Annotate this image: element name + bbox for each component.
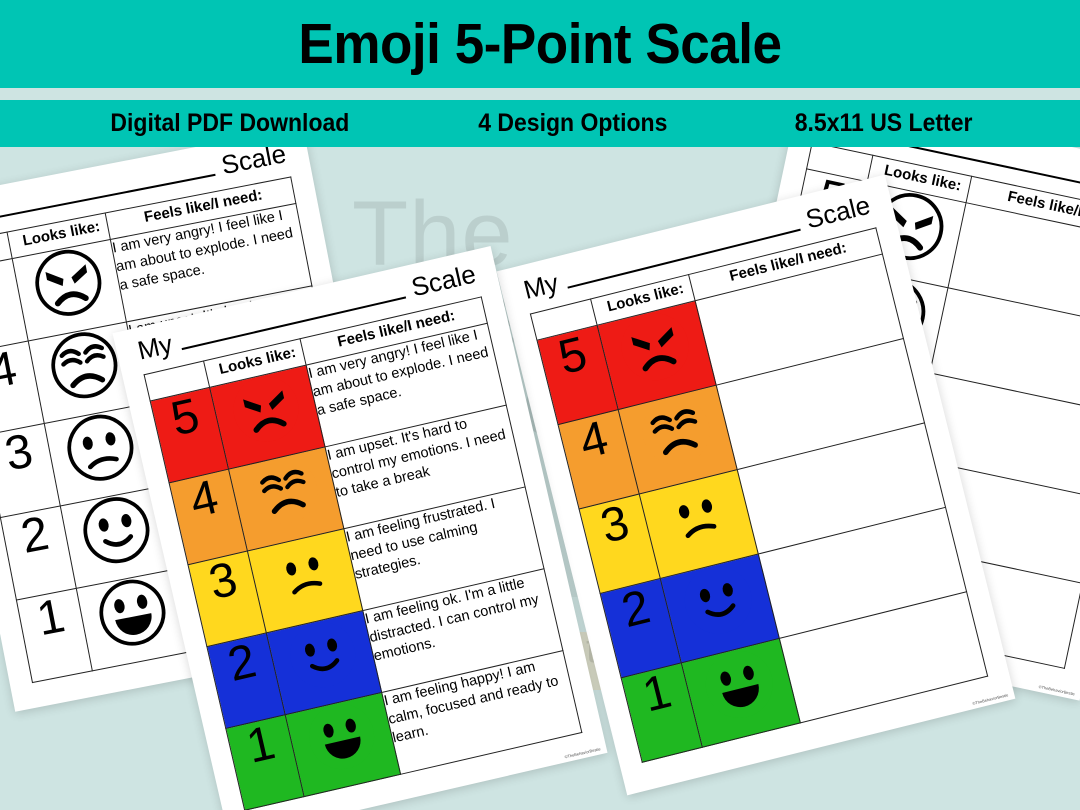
level-number: 4 — [0, 342, 21, 399]
ok-face-icon — [689, 613, 760, 646]
preview-stage: The Behavior Bestie Making behavior bett… — [0, 147, 1080, 810]
level-number: 5 — [553, 327, 592, 385]
features-band: Digital PDF Download 4 Design Options 8.… — [0, 100, 1080, 147]
happy-face-icon — [103, 627, 173, 657]
angry-face-icon — [38, 297, 108, 327]
heading-scale-label: Scale — [803, 190, 874, 236]
ok-face-icon — [294, 667, 363, 699]
copyright-notice: ©TheBehaviorBestie — [972, 692, 1009, 706]
heading-scale-label: Scale — [408, 259, 478, 304]
heading-my-label: My — [520, 267, 561, 305]
feature-size: 8.5x11 US Letter — [795, 109, 973, 138]
heading-my-label: My — [135, 329, 176, 367]
level-number: 4 — [185, 471, 223, 529]
upset-face-icon — [647, 444, 718, 477]
angry-face-icon — [237, 422, 306, 454]
happy-face-icon — [711, 697, 782, 730]
page-title: Emoji 5-Point Scale — [38, 0, 1042, 88]
features-row: Digital PDF Download 4 Design Options 8.… — [0, 100, 1080, 147]
scale-table: Looks like: Feels like/I need: 5 I am ve… — [144, 296, 583, 810]
level-number: 4 — [575, 411, 614, 469]
angry-face-icon — [626, 359, 697, 392]
frustrated-face-icon — [275, 585, 344, 617]
frustrated-face-icon — [71, 462, 141, 492]
feature-design: 4 Design Options — [479, 109, 668, 138]
level-number: 2 — [617, 580, 656, 638]
level-number: 2 — [223, 634, 261, 692]
copyright-notice: ©TheBehaviorBestie — [1038, 684, 1075, 697]
level-number: 3 — [1, 424, 37, 481]
frustrated-face-icon — [668, 528, 739, 561]
level-number: 1 — [33, 589, 69, 646]
ok-face-icon — [87, 544, 157, 574]
copyright-notice: ©TheBehaviorBestie — [564, 746, 601, 759]
level-number: 3 — [204, 552, 242, 610]
level-number: 3 — [596, 496, 635, 554]
level-number: 1 — [638, 665, 677, 723]
happy-face-icon — [313, 749, 382, 781]
level-number: 5 — [0, 259, 5, 316]
feature-pdf: Digital PDF Download — [110, 109, 349, 138]
level-number: 2 — [17, 507, 53, 564]
level-number: 5 — [166, 389, 204, 447]
upset-face-icon — [55, 379, 125, 409]
level-number: 1 — [242, 716, 280, 774]
upset-face-icon — [256, 504, 325, 536]
heading-scale-label: Scale — [219, 147, 289, 181]
title-band: Emoji 5-Point Scale — [0, 0, 1080, 88]
